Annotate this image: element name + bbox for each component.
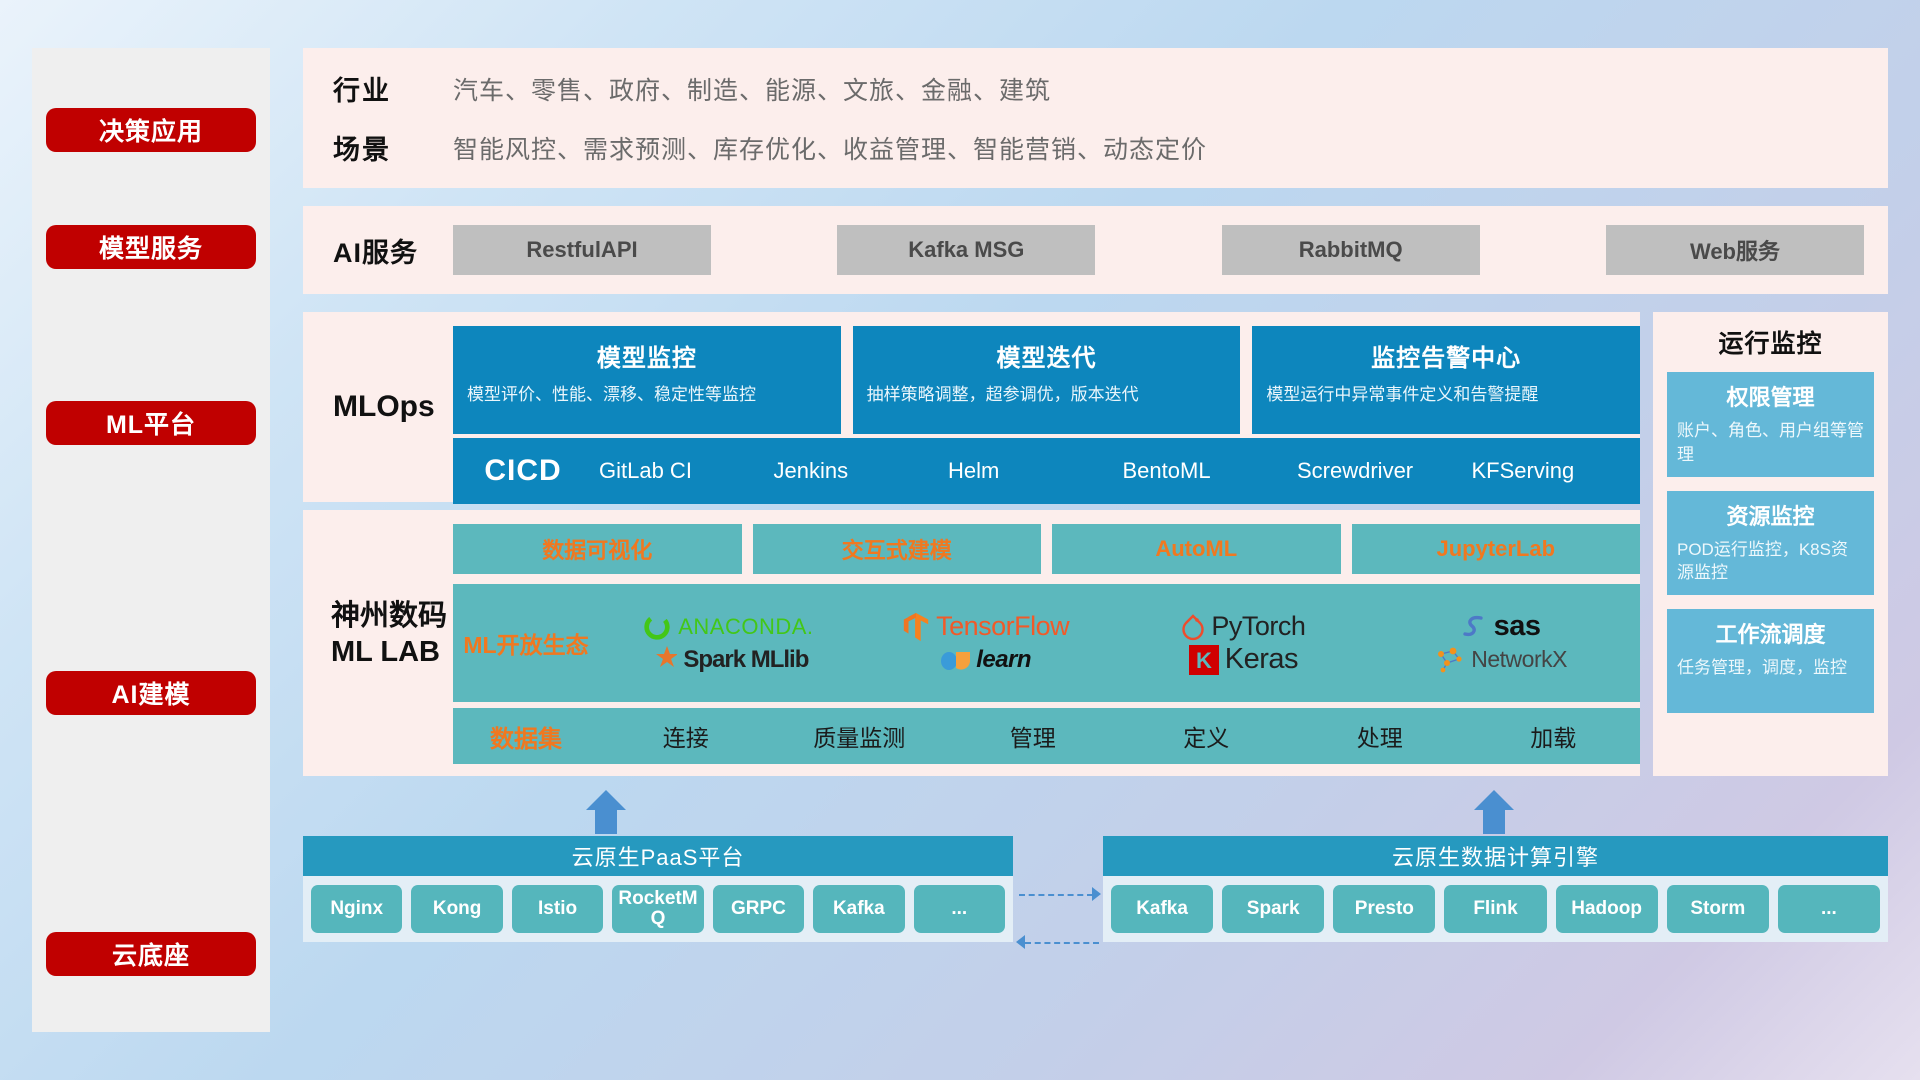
section-decision-applications: 行业 汽车、零售、政府、制造、能源、文旅、金融、建筑 场景 智能风控、需求预测、… [303, 48, 1888, 188]
monitor-card-permission-management[interactable]: 权限管理 账户、角色、用户组等管理 [1667, 372, 1874, 477]
monitor-card-title: 权限管理 [1677, 380, 1864, 412]
dataset-item-manage[interactable]: 管理 [946, 719, 1120, 753]
sas-icon [1462, 613, 1488, 641]
engine-chip-spark[interactable]: Spark [1222, 885, 1324, 933]
architecture-main: 行业 汽车、零售、政府、制造、能源、文旅、金融、建筑 场景 智能风控、需求预测、… [303, 48, 1888, 1032]
mlops-card-model-iteration[interactable]: 模型迭代 抽样策略调整，超参调优，版本迭代 [853, 326, 1241, 434]
keras-icon: K [1189, 645, 1219, 675]
rail-badge-ai-modeling[interactable]: AI建模 [46, 671, 256, 715]
mlops-label: MLOps [333, 390, 435, 424]
cloud-paas-title: 云原生PaaS平台 [303, 836, 1013, 876]
sas-logo-text: sas [1494, 610, 1541, 643]
scikit-learn-icon [940, 646, 970, 674]
anaconda-icon [642, 612, 672, 642]
engine-chip-presto[interactable]: Presto [1333, 885, 1435, 933]
cicd-label: CICD [453, 454, 593, 488]
ml-lab-label: 神州数码 ML LAB [331, 598, 447, 671]
lab-tool-jupyterlab[interactable]: JupyterLab [1352, 524, 1641, 574]
cicd-item-jenkins[interactable]: Jenkins [768, 460, 943, 482]
scenario-values: 智能风控、需求预测、库存优化、收益管理、智能营销、动态定价 [453, 130, 1207, 166]
cloud-chip-nginx[interactable]: Nginx [311, 885, 402, 933]
cicd-item-screwdriver[interactable]: Screwdriver [1291, 460, 1466, 482]
cicd-item-bentoml[interactable]: BentoML [1117, 460, 1292, 482]
engine-chip-hadoop[interactable]: Hadoop [1556, 885, 1658, 933]
mlops-card-desc: 抽样策略调整，超参调优，版本迭代 [867, 383, 1227, 408]
ml-lab-label-line1: 神州数码 [331, 598, 447, 634]
sas-logo: sas [1462, 610, 1541, 643]
keras-logo-text: Keras [1225, 643, 1298, 676]
rail-badge-decision-apps[interactable]: 决策应用 [46, 108, 256, 152]
cloud-chip-kafka[interactable]: Kafka [813, 885, 904, 933]
engine-chip-storm[interactable]: Storm [1667, 885, 1769, 933]
dataset-item-process[interactable]: 处理 [1293, 719, 1467, 753]
monitor-card-title: 资源监控 [1677, 499, 1864, 531]
engine-chip-kafka[interactable]: Kafka [1111, 885, 1213, 933]
cicd-item-gitlab-ci[interactable]: GitLab CI [593, 460, 768, 482]
dataset-strip: 数据集 连接 质量监测 管理 定义 处理 加载 [453, 708, 1640, 764]
cicd-item-helm[interactable]: Helm [942, 460, 1117, 482]
mlops-card-desc: 模型运行中异常事件定义和告警提醒 [1266, 383, 1626, 408]
dataset-item-connect[interactable]: 连接 [599, 719, 773, 753]
monitor-card-desc: POD运行监控，K8S资源监控 [1677, 538, 1864, 586]
cloud-chip-grpc[interactable]: GRPC [713, 885, 804, 933]
cloud-chip-kong[interactable]: Kong [411, 885, 502, 933]
app-row-industry: 行业 汽车、零售、政府、制造、能源、文旅、金融、建筑 [333, 69, 1888, 108]
cloud-chip-rocketmq[interactable]: RocketMQ [612, 885, 703, 933]
ai-service-label: AI服务 [333, 231, 453, 270]
service-chip-rabbitmq[interactable]: RabbitMQ [1222, 225, 1480, 275]
industry-label: 行业 [333, 69, 453, 108]
mlops-card-title: 模型迭代 [867, 338, 1227, 373]
cloud-chip-more[interactable]: ... [914, 885, 1005, 933]
dataset-item-quality-monitor[interactable]: 质量监测 [773, 719, 947, 753]
ml-ecosystem-label: ML开放生态 [453, 626, 599, 660]
dataset-item-define[interactable]: 定义 [1120, 719, 1294, 753]
cicd-item-kfserving[interactable]: KFServing [1466, 460, 1641, 482]
anaconda-logo-text: ANACONDA. [678, 614, 813, 640]
scikit-learn-logo-text: learn [976, 646, 1031, 674]
industry-values: 汽车、零售、政府、制造、能源、文旅、金融、建筑 [453, 71, 1051, 107]
networkx-icon [1435, 646, 1465, 674]
tensorflow-icon [902, 612, 930, 642]
lab-tool-interactive-modeling[interactable]: 交互式建模 [753, 524, 1042, 574]
pytorch-logo-text: PyTorch [1211, 611, 1305, 642]
tensorflow-logo: TensorFlow [902, 611, 1069, 642]
svg-text:K: K [1196, 648, 1212, 673]
section-ai-modeling: 神州数码 ML LAB 数据可视化 交互式建模 AutoML JupyterLa… [303, 510, 1640, 776]
section-runtime-monitoring: 运行监控 权限管理 账户、角色、用户组等管理 资源监控 POD运行监控，K8S资… [1653, 312, 1888, 776]
mlops-card-desc: 模型评价、性能、漂移、稳定性等监控 [467, 383, 827, 408]
mlops-card-title: 模型监控 [467, 338, 827, 373]
monitor-card-resource-monitoring[interactable]: 资源监控 POD运行监控，K8S资源监控 [1667, 491, 1874, 596]
rail-badge-cloud-base[interactable]: 云底座 [46, 932, 256, 976]
ml-lab-label-line2: ML LAB [331, 634, 447, 670]
scikit-learn-logo: learn [940, 646, 1031, 674]
monitor-card-desc: 账户、角色、用户组等管理 [1677, 419, 1864, 467]
engine-chip-flink[interactable]: Flink [1444, 885, 1546, 933]
ml-ecosystem-panel: ML开放生态 ANACONDA. TensorFlow [453, 584, 1640, 702]
rail-badge-ml-platform[interactable]: ML平台 [46, 401, 256, 445]
cloud-group-data-engine: 云原生数据计算引擎 Kafka Spark Presto Flink Hadoo… [1103, 836, 1888, 942]
spark-mllib-logo: Spark MLlib [647, 646, 808, 674]
anaconda-logo: ANACONDA. [642, 612, 813, 642]
engine-chip-more[interactable]: ... [1778, 885, 1880, 933]
tensorflow-logo-text: TensorFlow [936, 611, 1069, 642]
pytorch-icon [1181, 612, 1205, 642]
keras-logo: K Keras [1189, 643, 1298, 676]
monitor-card-workflow-scheduling[interactable]: 工作流调度 任务管理，调度，监控 [1667, 609, 1874, 713]
cloud-data-engine-title: 云原生数据计算引擎 [1103, 836, 1888, 876]
service-chip-web-service[interactable]: Web服务 [1606, 225, 1864, 275]
scenario-label: 场景 [333, 128, 453, 167]
cloud-group-paas: 云原生PaaS平台 Nginx Kong Istio RocketMQ GRPC… [303, 836, 1013, 942]
layer-rail: 决策应用 模型服务 ML平台 AI建模 云底座 [32, 48, 270, 1032]
spark-icon [647, 646, 677, 674]
section-mlops: MLOps 模型监控 模型评价、性能、漂移、稳定性等监控 模型迭代 抽样策略调整… [303, 312, 1640, 502]
mlops-card-model-monitoring[interactable]: 模型监控 模型评价、性能、漂移、稳定性等监控 [453, 326, 841, 434]
service-chip-restfulapi[interactable]: RestfulAPI [453, 225, 711, 275]
service-chip-kafka-msg[interactable]: Kafka MSG [837, 225, 1095, 275]
lab-tool-data-visualization[interactable]: 数据可视化 [453, 524, 742, 574]
monitor-card-title: 工作流调度 [1677, 617, 1864, 649]
cicd-strip: CICD GitLab CI Jenkins Helm BentoML Scre… [453, 438, 1640, 504]
lab-tool-automl[interactable]: AutoML [1052, 524, 1341, 574]
dataset-label: 数据集 [453, 719, 599, 754]
networkx-logo: NetworkX [1435, 646, 1567, 674]
spark-mllib-logo-text: Spark MLlib [683, 646, 808, 674]
networkx-logo-text: NetworkX [1471, 646, 1567, 673]
section-ai-services: AI服务 RestfulAPI Kafka MSG RabbitMQ Web服务 [303, 206, 1888, 294]
pytorch-logo: PyTorch [1181, 611, 1305, 642]
app-row-scenario: 场景 智能风控、需求预测、库存优化、收益管理、智能营销、动态定价 [333, 128, 1888, 167]
monitor-card-desc: 任务管理，调度，监控 [1677, 656, 1864, 680]
mlops-card-title: 监控告警中心 [1266, 338, 1626, 373]
rail-badge-model-service[interactable]: 模型服务 [46, 225, 256, 269]
mlops-card-alert-center[interactable]: 监控告警中心 模型运行中异常事件定义和告警提醒 [1252, 326, 1640, 434]
runtime-monitoring-title: 运行监控 [1667, 324, 1874, 360]
dataset-item-load[interactable]: 加载 [1467, 719, 1641, 753]
cloud-chip-istio[interactable]: Istio [512, 885, 603, 933]
